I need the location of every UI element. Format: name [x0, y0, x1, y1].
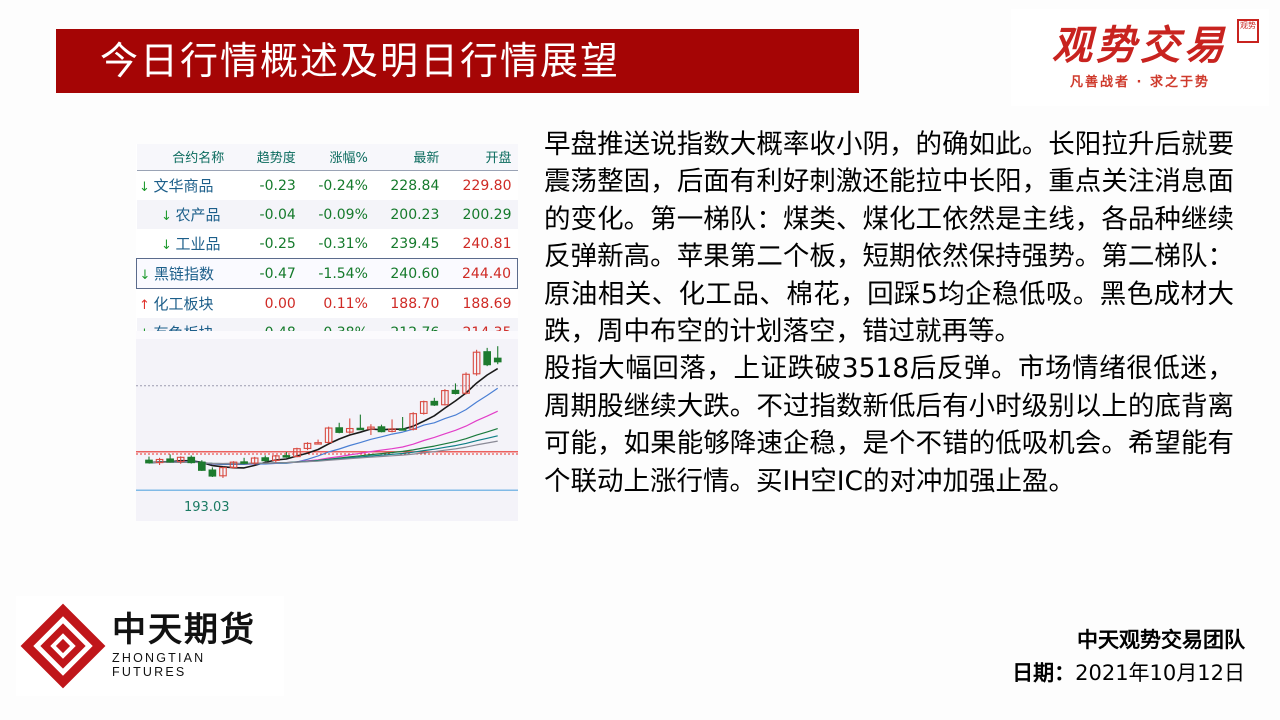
candle-body — [484, 352, 491, 365]
signature-team: 中天观势交易团队 — [540, 625, 1245, 655]
candle — [431, 398, 438, 406]
candle — [251, 457, 258, 465]
candle — [325, 427, 332, 444]
candle — [241, 458, 248, 464]
signature-date-label: 日期： — [1012, 661, 1075, 685]
trend-cell: 0.00 — [242, 289, 302, 319]
candle — [484, 348, 491, 366]
open-price-cell: 200.29 — [445, 200, 517, 229]
candle-body — [146, 460, 153, 463]
candle-body — [199, 462, 206, 470]
candle — [452, 383, 459, 394]
candle — [442, 389, 449, 405]
candle-body — [241, 462, 248, 463]
candle-body — [209, 470, 216, 476]
table-row[interactable]: ↓农产品-0.04-0.09%200.23200.29 — [137, 200, 518, 229]
last-price-cell: 200.23 — [374, 200, 445, 229]
candle — [389, 419, 396, 432]
change-cell: -0.09% — [302, 200, 374, 229]
candle — [209, 467, 216, 477]
down-arrow-icon: ↓ — [161, 238, 173, 253]
candle-body — [399, 429, 406, 430]
chart-MA-magenta — [149, 411, 498, 464]
candle — [146, 457, 153, 464]
commentary-paragraph-2: 股指大幅回落，上证跌破3518后反弹。市场情绪很低迷，周期股继续大跌。不过指数新… — [544, 350, 1234, 500]
open-price-cell: 240.81 — [445, 229, 517, 259]
trend-cell: -0.25 — [242, 229, 302, 259]
open-price-cell: 188.69 — [445, 289, 517, 319]
candle — [315, 440, 322, 445]
candle — [199, 460, 206, 471]
contract-name-label: 文华商品 — [154, 177, 214, 195]
table-row[interactable]: ↓黑链指数-0.47-1.54%240.60244.40 — [137, 259, 518, 289]
candle — [347, 418, 354, 433]
column-header-last[interactable]: 最新 — [374, 144, 445, 171]
column-header-open[interactable]: 开盘 — [445, 144, 517, 171]
last-price-cell: 240.60 — [374, 259, 445, 289]
down-arrow-icon: ↓ — [139, 268, 151, 283]
last-price-cell: 188.70 — [374, 289, 445, 319]
brand-logo-slogan: 凡善战者 · 求之于势 — [1070, 71, 1210, 90]
contract-name-label: 黑链指数 — [154, 265, 214, 283]
brand-logo: 观势交易 凡善战者 · 求之于势 观势 — [1011, 9, 1269, 106]
title-banner: 今日行情概述及明日行情展望 — [56, 29, 859, 93]
contract-name-label: 农产品 — [176, 206, 221, 224]
change-cell: -1.54% — [302, 259, 374, 289]
quotes-table-body: ↓文华商品-0.23-0.24%228.84229.80↓农产品-0.04-0.… — [137, 171, 518, 348]
candle — [473, 350, 480, 376]
candle — [494, 346, 501, 364]
table-row[interactable]: ↓工业品-0.25-0.31%239.45240.81 — [137, 229, 518, 259]
company-logo: 中天期货 ZHONGTIAN FUTURES — [16, 596, 284, 696]
contract-name-cell[interactable]: ↓工业品 — [137, 229, 243, 259]
chart-price-label: 193.03 — [184, 500, 230, 515]
table-row[interactable]: ↑化工板块0.000.11%188.70188.69 — [137, 289, 518, 319]
last-price-cell: 228.84 — [374, 171, 445, 201]
candle — [336, 423, 343, 434]
contract-name-cell[interactable]: ↑化工板块 — [137, 289, 243, 319]
company-logo-words: 中天期货 ZHONGTIAN FUTURES — [112, 613, 284, 680]
candle-body — [167, 459, 174, 462]
contract-name-cell[interactable]: ↓文华商品 — [137, 171, 243, 201]
page-title: 今日行情概述及明日行情展望 — [56, 42, 620, 80]
candle-body — [262, 458, 269, 461]
contract-name-label: 工业品 — [176, 235, 221, 253]
candle — [220, 467, 227, 478]
open-price-cell: 229.80 — [445, 171, 517, 201]
up-arrow-icon: ↑ — [139, 298, 151, 313]
candle-body — [494, 358, 501, 362]
company-name-cn: 中天期货 — [112, 613, 284, 649]
signature-block: 中天观势交易团队 日期：2021年10月12日 — [540, 625, 1245, 689]
open-price-cell: 244.40 — [445, 259, 517, 289]
candle-body — [357, 428, 364, 429]
candle — [273, 455, 280, 463]
candle-body — [378, 427, 385, 432]
trend-cell: -0.23 — [242, 171, 302, 201]
commentary-paragraph-1: 早盘推送说指数大概率收小阴，的确如此。长阳拉升后就要震荡整固，后面有利好刺激还能… — [544, 126, 1234, 350]
change-cell: 0.11% — [302, 289, 374, 319]
chart-svg — [136, 331, 518, 521]
candle — [188, 455, 195, 463]
candle — [420, 401, 427, 415]
slide-canvas: 今日行情概述及明日行情展望 观势交易 凡善战者 · 求之于势 观势 合约名称 趋… — [0, 0, 1280, 720]
market-commentary: 早盘推送说指数大概率收小阴，的确如此。长阳拉升后就要震荡整固，后面有利好刺激还能… — [544, 126, 1234, 500]
candle — [167, 454, 174, 462]
candle-body — [283, 456, 290, 457]
candle-body — [336, 428, 343, 433]
change-cell: -0.31% — [302, 229, 374, 259]
brand-seal-icon: 观势 — [1237, 19, 1259, 43]
candle — [230, 461, 237, 469]
zhongtian-mark-icon — [24, 607, 102, 685]
contract-name-cell[interactable]: ↓黑链指数 — [137, 259, 243, 289]
quotes-table[interactable]: 合约名称 趋势度 涨幅% 最新 开盘 ↓文华商品-0.23-0.24%228.8… — [136, 144, 518, 347]
brand-logo-name: 观势交易 — [1052, 25, 1228, 67]
trend-cell: -0.04 — [242, 200, 302, 229]
signature-date-value: 2021年10月12日 — [1075, 661, 1245, 685]
column-header-name[interactable]: 合约名称 — [137, 144, 243, 171]
down-arrow-icon: ↓ — [139, 180, 151, 195]
candle-body — [452, 390, 459, 393]
candle — [262, 455, 269, 461]
down-arrow-icon: ↓ — [161, 209, 173, 224]
table-header-row: 合约名称 趋势度 涨幅% 最新 开盘 — [137, 144, 518, 171]
candle — [357, 415, 364, 430]
column-header-change[interactable]: 涨幅% — [302, 144, 374, 171]
candlestick-chart[interactable]: 193.03 — [136, 331, 518, 521]
contract-name-label: 化工板块 — [154, 295, 214, 313]
last-price-cell: 239.45 — [374, 229, 445, 259]
candle-body — [188, 457, 195, 462]
candle — [304, 442, 311, 450]
candle-body — [431, 401, 438, 405]
trend-cell: -0.47 — [242, 259, 302, 289]
table-row[interactable]: ↓文华商品-0.23-0.24%228.84229.80 — [137, 171, 518, 201]
contract-name-cell[interactable]: ↓农产品 — [137, 200, 243, 229]
change-cell: -0.24% — [302, 171, 374, 201]
company-name-en: ZHONGTIAN FUTURES — [112, 651, 284, 679]
column-header-trend[interactable]: 趋势度 — [242, 144, 302, 171]
candle — [378, 425, 385, 433]
candle — [283, 452, 290, 458]
signature-date: 日期：2021年10月12日 — [540, 657, 1245, 689]
